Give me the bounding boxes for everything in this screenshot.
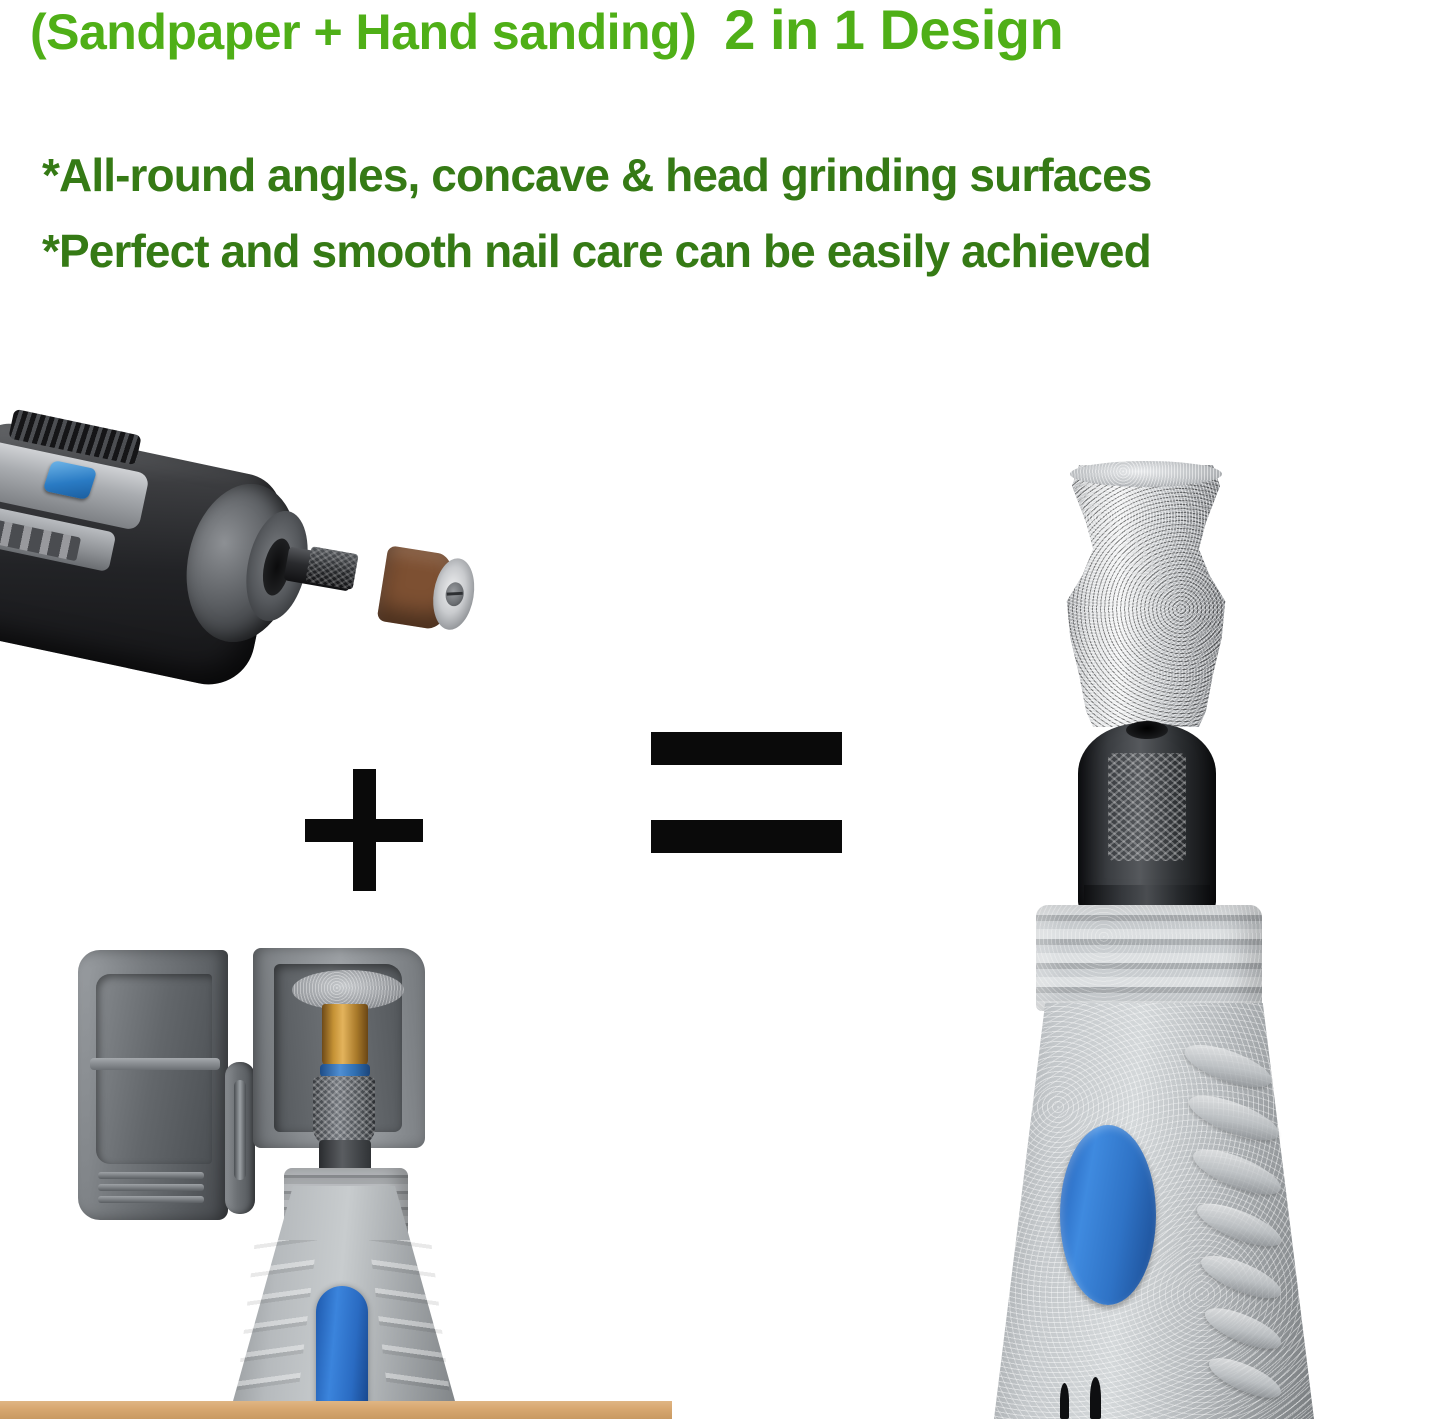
cap-left-notch [90,1058,220,1070]
feature-bullet-all-round-angles: *All-round angles, concave & head grindi… [42,152,1452,198]
plus-horizontal-bar [305,819,423,842]
equals-top-bar [651,732,842,765]
cap-left-rib-2 [98,1184,204,1191]
grinding-bit-gold-shaft [322,1004,368,1066]
diamond-grinding-bit-top-face [1070,461,1222,487]
headline-part-sandpaper-hand-sanding: (Sandpaper + Hand sanding) [30,7,696,57]
diamond-grinding-bit [1058,465,1234,727]
wooden-table-surface [0,1401,672,1419]
cap-hinge-pin [234,1080,246,1180]
black-rotary-tool-figure [0,430,510,730]
assembled-nail-grinder-figure [950,465,1390,1419]
grip-ridge-5 [1196,1247,1286,1306]
feature-bullet-nail-care: *Perfect and smooth nail care can be eas… [42,228,1452,274]
grip-ridge-4 [1192,1195,1286,1255]
right-collet-knurling [1108,753,1186,861]
grip-ridge-7 [1204,1350,1286,1405]
plus-operator-icon [305,769,423,891]
right-collet-opening [1126,721,1168,739]
cap-left-rib-1 [98,1172,204,1179]
left-gray-tool-body-figure [228,1186,460,1419]
left-tool-blue-button [316,1286,368,1419]
equals-bottom-bar [651,820,842,853]
right-tool-blue-button [1060,1125,1156,1305]
cap-left-rib-3 [98,1196,204,1203]
headline-part-2-in-1-design: 2 in 1 Design [724,2,1063,58]
right-tool-vent-1 [1060,1383,1069,1419]
right-tool-grip-ridges [1174,1045,1294,1415]
grip-ridge-1 [1180,1036,1277,1096]
grip-ridge-3 [1188,1140,1286,1203]
right-tool-collar-sparkle [1036,905,1262,1011]
grip-ridge-2 [1184,1087,1284,1149]
feature-bullet-list: *All-round angles, concave & head grindi… [42,152,1452,274]
equals-operator-icon [651,732,842,853]
product-marketing-image: (Sandpaper + Hand sanding) 2 in 1 Design… [0,0,1455,1419]
sanding-drum [377,545,480,634]
headline: (Sandpaper + Hand sanding) 2 in 1 Design [30,2,1455,58]
grip-ridge-6 [1200,1300,1286,1357]
grinding-bit-knurled-collet [313,1076,375,1146]
right-tool-vent-2 [1090,1377,1101,1419]
